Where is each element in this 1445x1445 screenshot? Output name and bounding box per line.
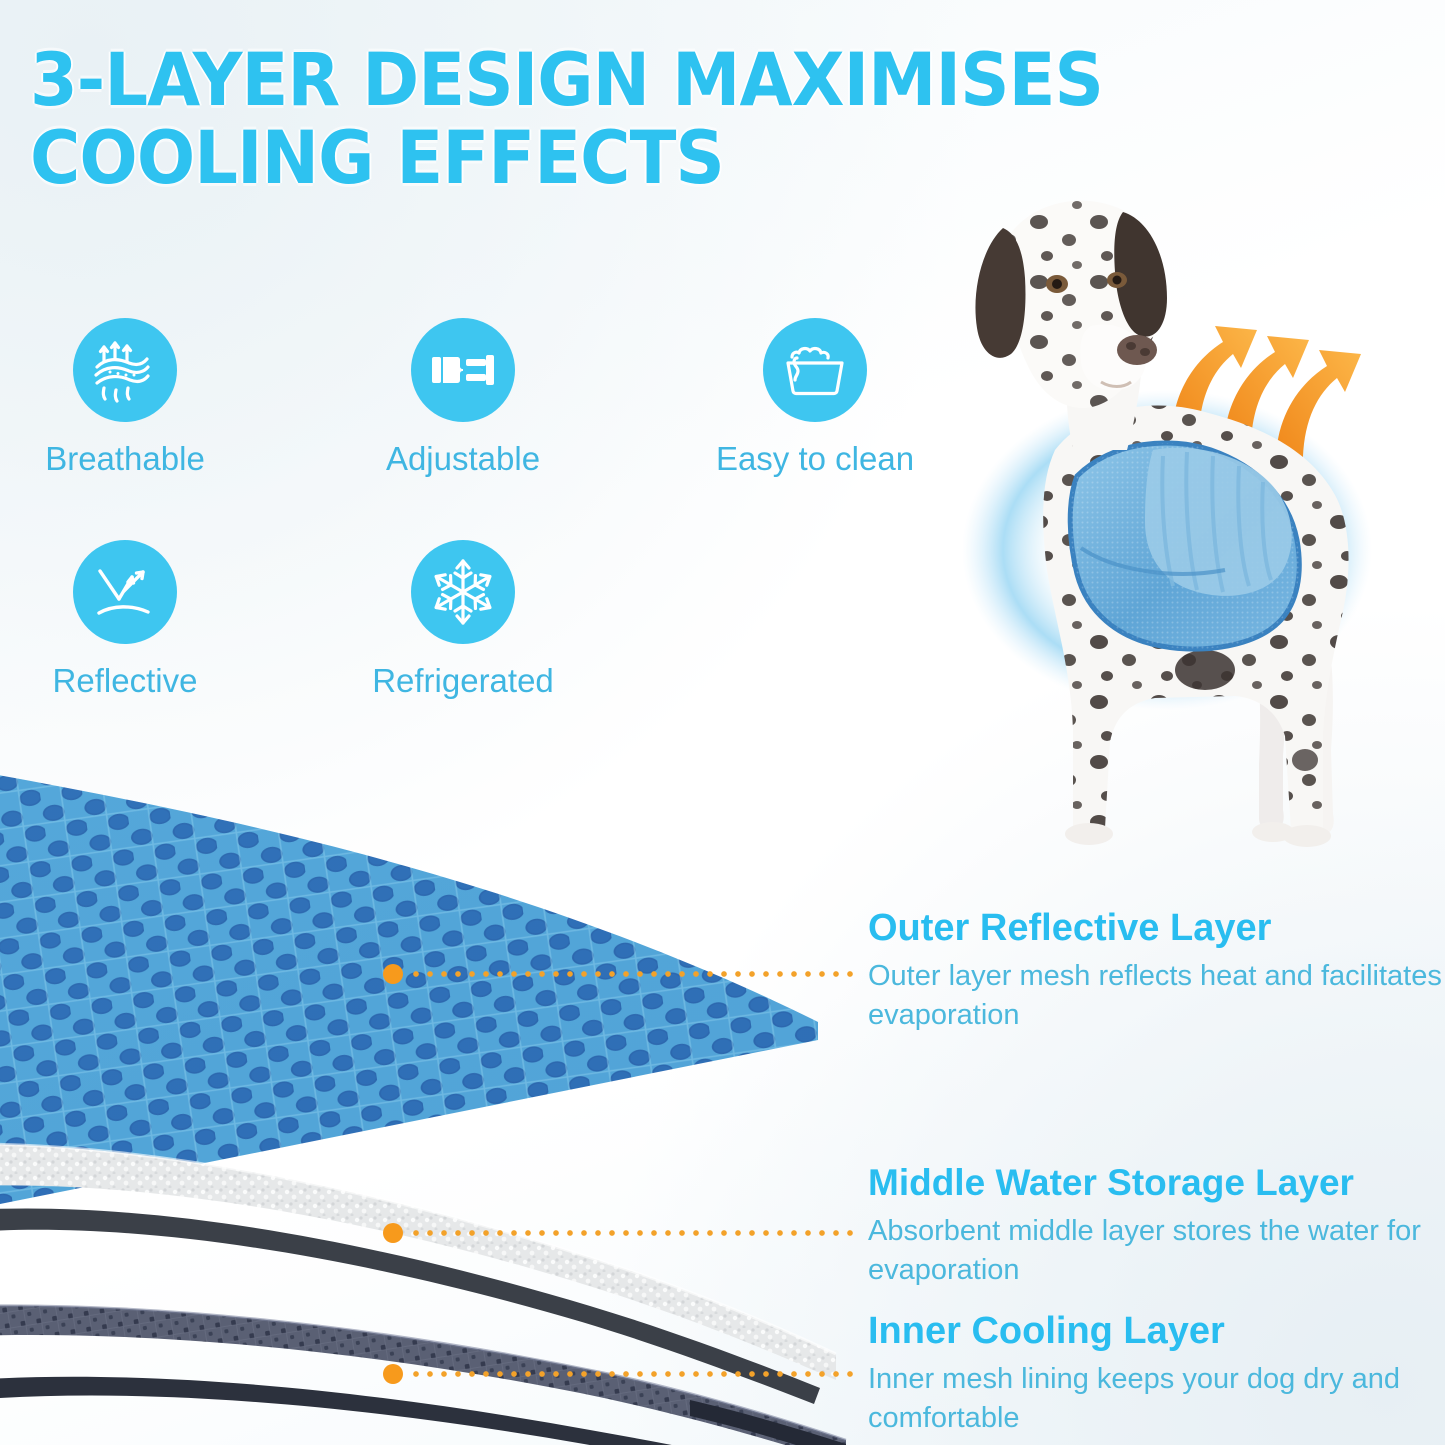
- breathable-fabric-icon: [73, 318, 177, 422]
- callout-heading: Middle Water Storage Layer: [868, 1160, 1445, 1206]
- dog-nose: [1117, 335, 1157, 365]
- feature-item-refrigerated: Refrigerated: [348, 540, 578, 700]
- reflective-rays-icon: [73, 540, 177, 644]
- callout-middle-water-storage-layer: Middle Water Storage Layer Absorbent mid…: [868, 1160, 1445, 1290]
- leader-line-middle-layer: [383, 1222, 855, 1244]
- title-line-1: 3-Layer Design Maximises: [30, 42, 1083, 120]
- feature-label: Reflective: [10, 662, 240, 700]
- callout-body: Absorbent middle layer stores the water …: [868, 1212, 1445, 1290]
- callout-inner-cooling-layer: Inner Cooling Layer Inner mesh lining ke…: [868, 1308, 1445, 1438]
- buckle-icon: [411, 318, 515, 422]
- leader-line-inner-layer: [383, 1363, 855, 1385]
- callout-heading: Outer Reflective Layer: [868, 905, 1445, 951]
- feature-item-breathable: Breathable: [10, 318, 240, 478]
- callout-outer-reflective-layer: Outer Reflective Layer Outer layer mesh …: [868, 905, 1445, 1035]
- callout-body: Inner mesh lining keeps your dog dry and…: [868, 1360, 1445, 1438]
- callout-heading: Inner Cooling Layer: [868, 1308, 1445, 1354]
- feature-label: Adjustable: [348, 440, 578, 478]
- leader-dot: [383, 1364, 403, 1384]
- feature-label: Easy to clean: [700, 440, 930, 478]
- product-photo-dog-in-vest: [905, 150, 1445, 880]
- infographic-canvas: 3-Layer Design Maximises Cooling Effects: [0, 0, 1445, 1445]
- leader-line-outer-layer: [383, 963, 855, 985]
- feature-item-reflective: Reflective: [10, 540, 240, 700]
- feature-item-easy-to-clean: Easy to clean: [700, 318, 930, 478]
- leader-dotted-line: [409, 1370, 855, 1378]
- feature-list: Breathable Adjustable: [0, 318, 940, 748]
- leader-dotted-line: [409, 1229, 855, 1237]
- feature-item-adjustable: Adjustable: [348, 318, 578, 478]
- leader-dotted-line: [409, 970, 855, 978]
- snowflake-icon: [411, 540, 515, 644]
- callout-body: Outer layer mesh reflects heat and facil…: [868, 957, 1445, 1035]
- feature-label: Breathable: [10, 440, 240, 478]
- layer-stack-illustration: [0, 740, 880, 1445]
- leader-dot: [383, 964, 403, 984]
- layer-outer-reflective-blue-mesh: [0, 770, 818, 1210]
- leader-dot: [383, 1223, 403, 1243]
- wash-basin-icon: [763, 318, 867, 422]
- feature-label: Refrigerated: [348, 662, 578, 700]
